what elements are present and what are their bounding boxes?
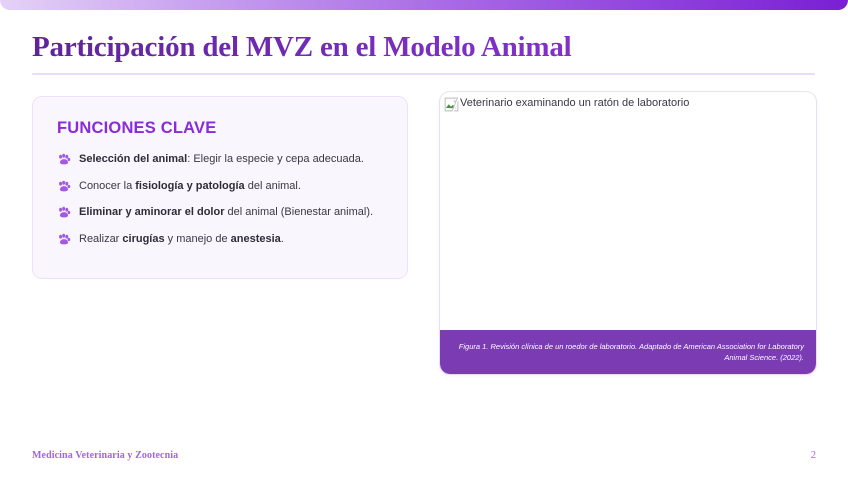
content-columns: FUNCIONES CLAVE Selección del animal: El… xyxy=(32,96,816,386)
list-item: Selección del animal: Elegir la especie … xyxy=(57,152,383,166)
key-functions-card: FUNCIONES CLAVE Selección del animal: El… xyxy=(32,96,408,279)
list-item-text: Realizar xyxy=(79,233,122,245)
page-title: Participación del MVZ en el Modelo Anima… xyxy=(32,30,816,64)
paw-print-icon xyxy=(57,232,71,246)
slide-root: Participación del MVZ en el Modelo Anima… xyxy=(0,0,848,477)
list-item-bold-tail: anestesia xyxy=(231,233,281,245)
figure-alt-text: Veterinario examinando un ratón de labor… xyxy=(460,96,689,111)
list-item-text-mid: y manejo de xyxy=(165,233,231,245)
broken-image-icon xyxy=(444,97,459,112)
list-item-bold-lead: Eliminar y aminorar el dolor xyxy=(79,206,225,218)
title-block: Participación del MVZ en el Modelo Anima… xyxy=(32,30,816,75)
figure-caption-text: Figura 1. Revisión clínica de un roedor … xyxy=(452,341,804,363)
title-divider xyxy=(32,73,815,75)
figure-image-placeholder: Veterinario examinando un ratón de labor… xyxy=(440,92,816,330)
list-item: Eliminar y aminorar el dolor del animal … xyxy=(57,205,383,219)
alt-row: Veterinario examinando un ratón de labor… xyxy=(444,96,808,112)
list-item-text: del animal (Bienestar animal). xyxy=(225,206,374,218)
list-item-text: : Elegir la especie y cepa adecuada. xyxy=(187,153,364,165)
footer-page-number: 2 xyxy=(811,450,816,461)
card-heading: FUNCIONES CLAVE xyxy=(57,119,383,138)
paw-print-icon xyxy=(57,152,71,166)
list-item-text: Conocer la xyxy=(79,180,135,192)
footer-program-label: Medicina Veterinaria y Zootecnia xyxy=(32,450,178,461)
list-item-text-final: . xyxy=(281,233,284,245)
top-gradient-bar xyxy=(0,0,848,10)
list-item: Realizar cirugías y manejo de anestesia. xyxy=(57,232,383,246)
list-item: Conocer la fisiología y patología del an… xyxy=(57,179,383,193)
list-item-bold-lead: Selección del animal xyxy=(79,153,187,165)
slide-footer: Medicina Veterinaria y Zootecnia 2 xyxy=(32,447,816,463)
key-functions-list: Selección del animal: Elegir la especie … xyxy=(57,152,383,246)
list-item-text-end: del animal. xyxy=(245,180,301,192)
figure-card: Veterinario examinando un ratón de labor… xyxy=(440,92,816,374)
paw-print-icon xyxy=(57,205,71,219)
figure-caption-bar: Figura 1. Revisión clínica de un roedor … xyxy=(440,330,816,374)
list-item-bold: cirugías xyxy=(122,233,164,245)
list-item-bold: fisiología y patología xyxy=(135,180,244,192)
paw-print-icon xyxy=(57,179,71,193)
